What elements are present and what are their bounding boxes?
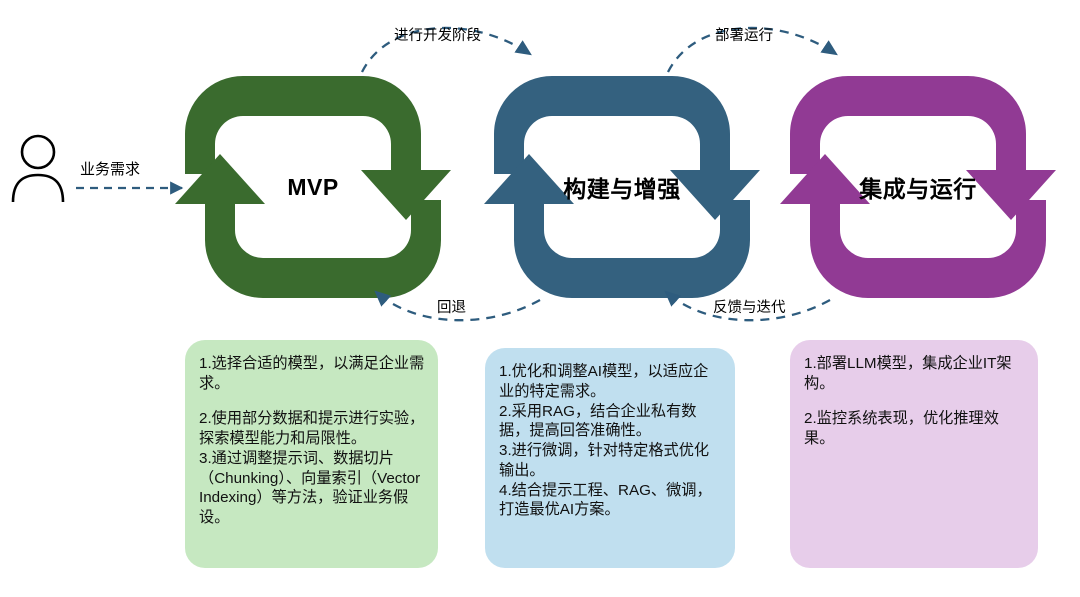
- note-line: 2.监控系统表现，优化推理效果。: [804, 409, 1026, 449]
- note-line: 3.通过调整提示词、数据切片（Chunking）、向量索引（Vector Ind…: [199, 449, 426, 528]
- diagram-canvas: 业务需求 MVP 构建与增强 集成与运行: [0, 0, 1080, 597]
- connector-arcs: [0, 0, 1080, 340]
- connector-label-mvp-to-build: 进行开发阶段: [394, 24, 481, 45]
- note-line: 1.部署LLM模型，集成企业IT架构。: [804, 354, 1026, 394]
- note-line: 2.使用部分数据和提示进行实验，探索模型能力和局限性。: [199, 409, 426, 449]
- connector-label-build-to-mvp: 回退: [437, 296, 466, 317]
- stage-note-mvp: 1.选择合适的模型，以满足企业需求。 2.使用部分数据和提示进行实验，探索模型能…: [185, 340, 438, 568]
- note-line: 1.优化和调整AI模型，以适应企业的特定需求。: [499, 362, 723, 402]
- stage-note-build-enhance: 1.优化和调整AI模型，以适应企业的特定需求。 2.采用RAG，结合企业私有数据…: [485, 348, 735, 568]
- note-line: 3.进行微调，针对特定格式优化输出。: [499, 441, 723, 481]
- connector-label-integrate-to-build: 反馈与迭代: [713, 296, 786, 317]
- stage-note-integrate-operate: 1.部署LLM模型，集成企业IT架构。 2.监控系统表现，优化推理效果。: [790, 340, 1038, 568]
- note-line: 2.采用RAG，结合企业私有数据，提高回答准确性。: [499, 402, 723, 442]
- connector-label-build-to-integrate: 部署运行: [715, 24, 773, 45]
- note-line: 4.结合提示工程、RAG、微调，打造最优AI方案。: [499, 481, 723, 521]
- note-line: 1.选择合适的模型，以满足企业需求。: [199, 354, 426, 394]
